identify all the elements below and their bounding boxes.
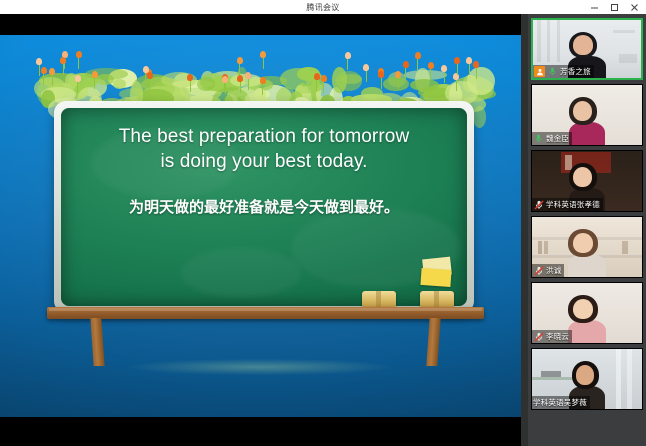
participant-sidebar[interactable]: 芳香之旅 魏金臣 学科英语张孝德 (521, 14, 646, 446)
participant-label: 李晓云 (532, 330, 572, 343)
flower-icon (453, 73, 459, 91)
participant-name: 洪诚 (546, 265, 561, 276)
stage-letterbox: The best preparation for tomorrow is doi… (0, 14, 521, 446)
flower-icon (454, 57, 460, 75)
participant-tile-list[interactable]: 芳香之旅 魏金臣 学科英语张孝德 (528, 14, 646, 446)
flower-icon (92, 71, 98, 89)
participant-label: 魏金臣 (532, 132, 572, 145)
flower-icon (260, 77, 266, 95)
flower-icon (49, 68, 55, 86)
participant-label: 学科英语吴梦薇 (532, 396, 590, 409)
flower-icon (415, 52, 421, 70)
flower-icon (75, 75, 81, 93)
flower-icon (314, 73, 320, 91)
flower-icon (378, 71, 384, 89)
participant-tile[interactable]: 芳香之旅 (531, 18, 643, 80)
maximize-button[interactable] (604, 0, 624, 14)
participant-tile[interactable]: 李晓云 (531, 282, 643, 344)
flower-icon (466, 57, 472, 75)
participant-name: 学科英语吴梦薇 (533, 397, 587, 408)
host-badge-icon (534, 66, 545, 77)
chalk-block (420, 291, 454, 308)
shared-screen-stage[interactable]: The best preparation for tomorrow is doi… (0, 14, 521, 446)
flower-icon (187, 74, 193, 92)
slide-english-line-2: is doing your best today. (61, 149, 467, 174)
flower-icon (441, 65, 447, 83)
participant-label: 芳香之旅 (533, 65, 594, 78)
sidebar-gutter (521, 14, 528, 446)
flower-icon (76, 51, 82, 69)
participant-name: 魏金臣 (546, 133, 569, 144)
tencent-meeting-window: 腾讯会议 (0, 0, 646, 446)
flower-icon (260, 51, 266, 69)
participant-name: 芳香之旅 (560, 66, 591, 77)
blackboard: The best preparation for tomorrow is doi… (54, 101, 474, 313)
participant-name: 学科英语张孝德 (546, 199, 600, 210)
slide-chinese-line: 为明天做的最好准备就是今天做到最好。 (61, 198, 467, 218)
ground-shadow (70, 357, 450, 377)
window-controls (584, 0, 644, 14)
flower-icon (245, 72, 251, 90)
participant-tile[interactable]: 学科英语吴梦薇 (531, 348, 643, 410)
letterbox-top (0, 14, 521, 35)
flower-icon (237, 57, 243, 75)
flower-icon (428, 62, 434, 80)
flower-icon (363, 64, 369, 82)
participant-tile[interactable]: 魏金臣 (531, 84, 643, 146)
microphone-muted-icon (533, 331, 544, 342)
flower-icon (222, 76, 228, 94)
flower-icon (237, 75, 243, 93)
flower-icon (321, 75, 327, 93)
flower-icon (345, 52, 351, 70)
sticky-note-icon (421, 258, 455, 288)
flower-icon (147, 72, 153, 90)
window-title: 腾讯会议 (0, 1, 646, 14)
blackboard-ledge (47, 307, 484, 319)
flower-icon (60, 57, 66, 75)
microphone-icon (533, 133, 544, 144)
flower-icon (36, 58, 42, 76)
letterbox-bottom (0, 417, 521, 438)
microphone-muted-icon (533, 199, 544, 210)
slide-text: The best preparation for tomorrow is doi… (61, 124, 467, 218)
microphone-icon (547, 66, 558, 77)
title-bar: 腾讯会议 (0, 0, 646, 15)
chalk-block (362, 291, 396, 308)
participant-label: 学科英语张孝德 (532, 198, 603, 211)
flower-icon (403, 61, 409, 79)
participant-name: 李晓云 (546, 331, 569, 342)
close-button[interactable] (624, 0, 644, 14)
blackboard-surface: The best preparation for tomorrow is doi… (61, 108, 467, 306)
presentation-slide: The best preparation for tomorrow is doi… (0, 35, 521, 417)
microphone-muted-icon (533, 265, 544, 276)
minimize-button[interactable] (584, 0, 604, 14)
flower-icon (395, 71, 401, 89)
flower-icon (473, 61, 479, 79)
participant-tile[interactable]: 洪诚 (531, 216, 643, 278)
participant-tile[interactable]: 学科英语张孝德 (531, 150, 643, 212)
slide-english-line-1: The best preparation for tomorrow (61, 124, 467, 149)
participant-label: 洪诚 (532, 264, 564, 277)
